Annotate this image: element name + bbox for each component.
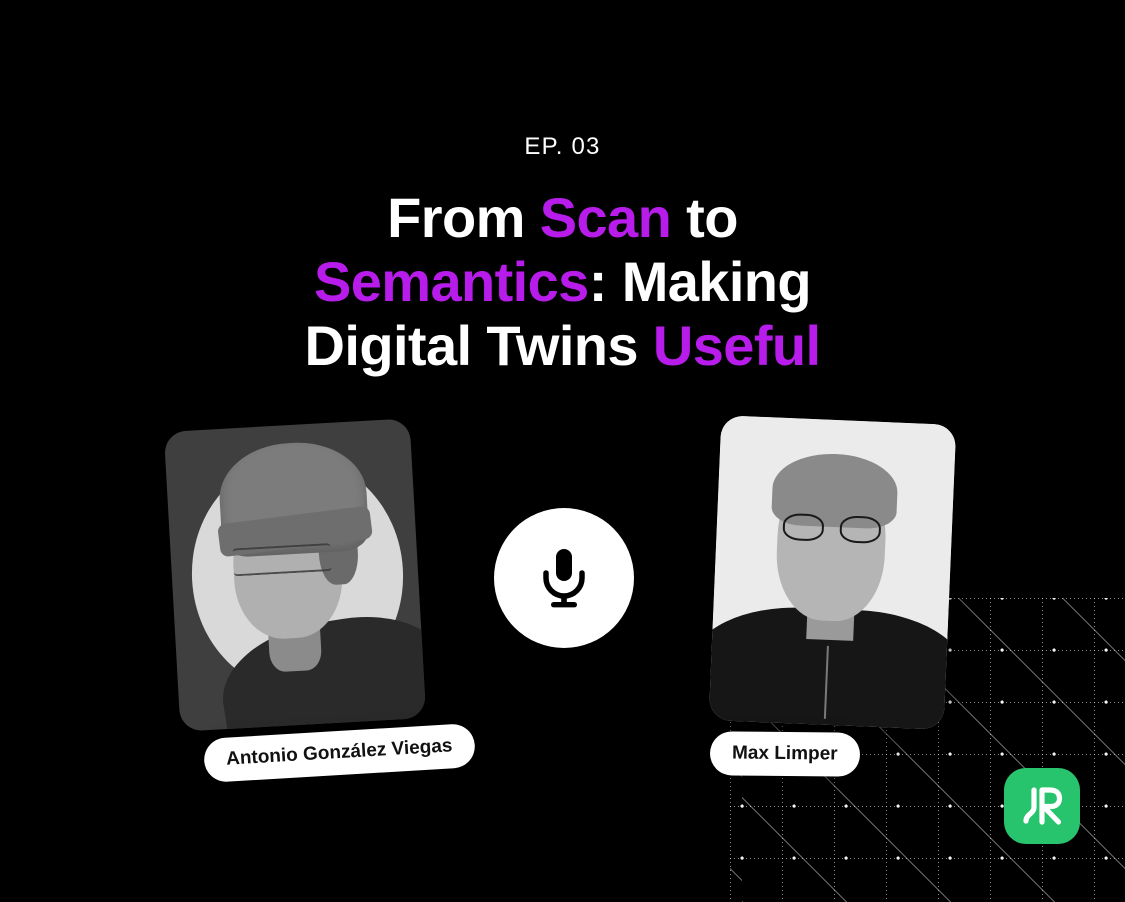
title-segment-accent: Useful	[653, 314, 821, 377]
microphone-badge	[494, 508, 634, 648]
jr-monogram-logo-icon	[1017, 781, 1067, 831]
title-line: Digital Twins Useful	[40, 314, 1085, 378]
speaker-photo	[709, 415, 957, 730]
microphone-icon	[538, 547, 590, 609]
title-segment-accent: Scan	[540, 186, 671, 249]
speaker-photo-frame	[164, 418, 426, 731]
title-segment: From	[387, 186, 540, 249]
title-segment: : Making	[589, 250, 811, 313]
speaker-name-badge: Max Limper	[710, 731, 860, 777]
title-segment: to	[671, 186, 738, 249]
speaker-photo	[164, 418, 426, 731]
speaker-name-badge: Antonio González Viegas	[203, 723, 476, 783]
title-line: Semantics: Making	[40, 250, 1085, 314]
podcast-episode-cover: EP. 03 From Scan to Semantics: Making Di…	[0, 0, 1125, 902]
episode-number-label: EP. 03	[0, 133, 1125, 161]
photo-glasses	[232, 543, 332, 576]
title-segment: Digital Twins	[305, 314, 653, 377]
photo-glasses	[782, 512, 882, 544]
brand-logo	[1004, 768, 1080, 844]
title-segment-accent: Semantics	[314, 250, 589, 313]
page-title: From Scan to Semantics: Making Digital T…	[0, 186, 1125, 378]
speaker-photo-frame	[709, 415, 957, 730]
speaker-card-max	[715, 420, 950, 725]
speaker-card-antonio	[172, 425, 418, 725]
title-line: From Scan to	[40, 186, 1085, 250]
